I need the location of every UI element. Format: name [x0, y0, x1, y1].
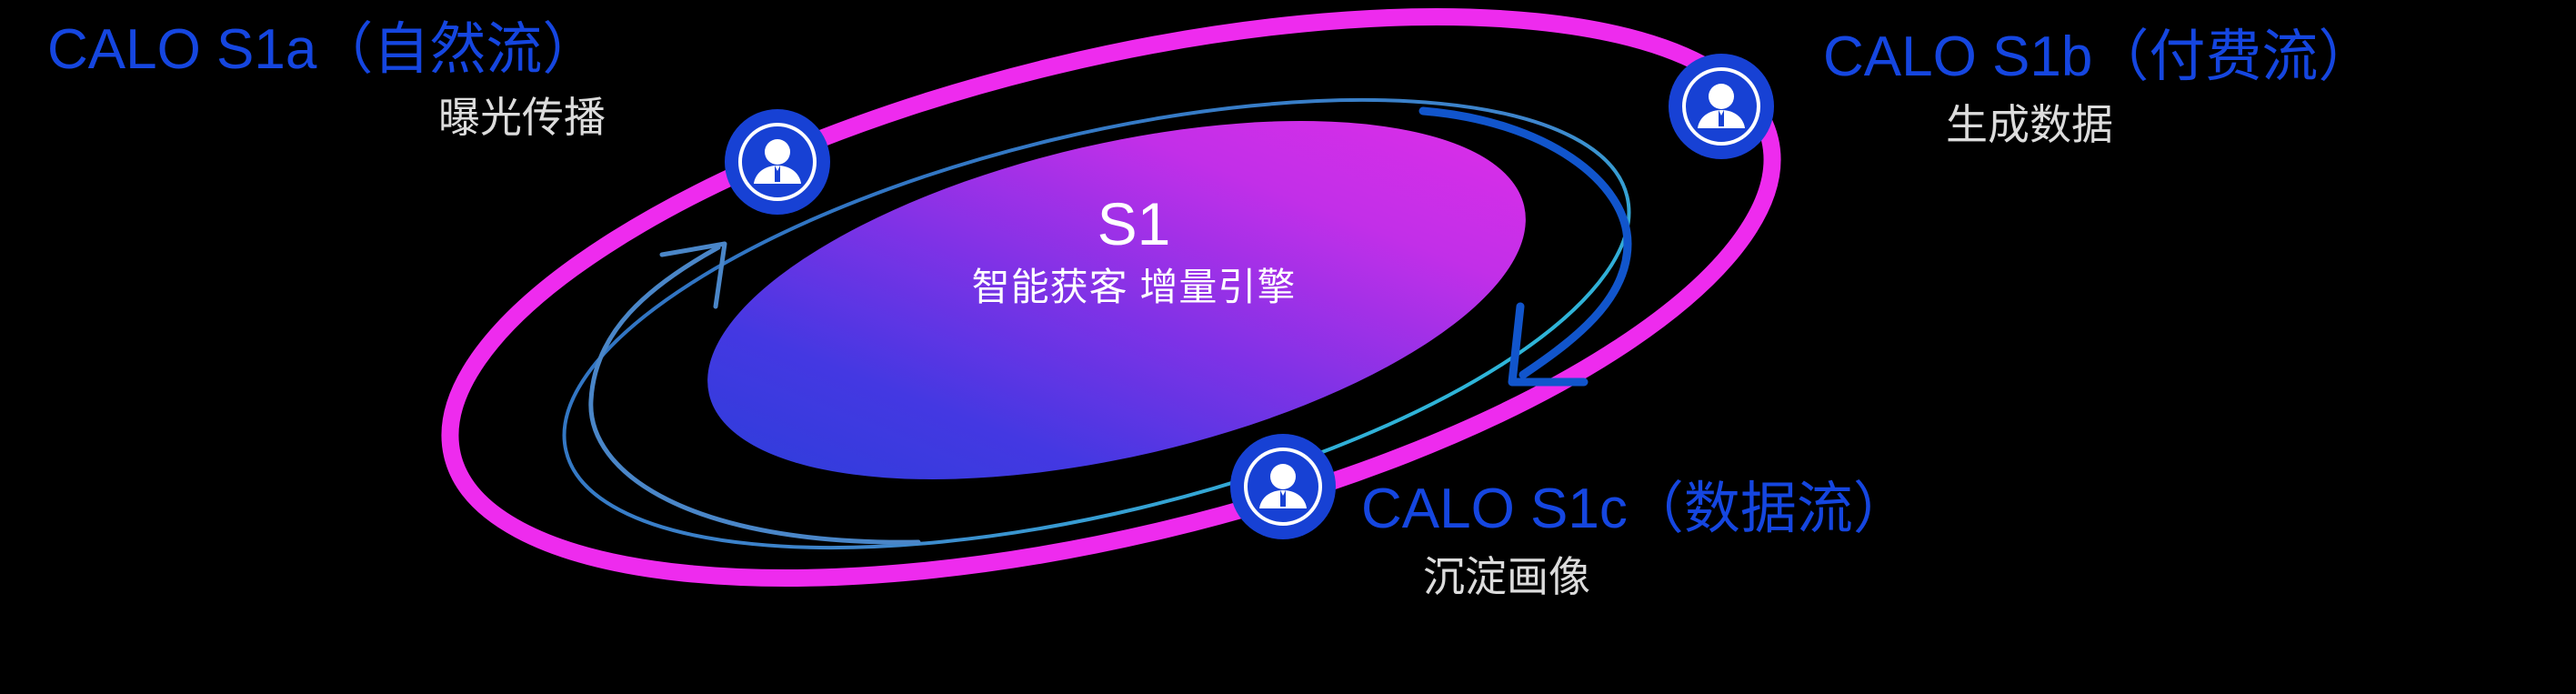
- node-label-s1c: CALO S1c（数据流） 沉淀画像: [1361, 479, 1909, 599]
- node-title-s1a: CALO S1a（自然流）: [47, 20, 606, 80]
- user-badge-icon[interactable]: [1669, 54, 1774, 159]
- node-subtitle-s1c: 沉淀画像: [1423, 554, 1909, 600]
- user-badge-icon[interactable]: [725, 109, 830, 215]
- node-label-s1a: CALO S1a（自然流） 曝光传播: [47, 20, 606, 140]
- user-badge-icon[interactable]: [1230, 434, 1336, 539]
- node-title-s1c: CALO S1c（数据流）: [1361, 479, 1909, 539]
- node-subtitle-s1a: 曝光传播: [438, 95, 606, 141]
- node-title-s1b: CALO S1b（付费流）: [1823, 27, 2374, 87]
- node-label-s1b: CALO S1b（付费流） 生成数据: [1823, 27, 2374, 147]
- diagram-canvas: S1 智能获客 增量引擎 CALO S1a（自然流） 曝光传播 CALO S1b…: [0, 0, 2576, 694]
- node-subtitle-s1b: 生成数据: [1946, 102, 2374, 148]
